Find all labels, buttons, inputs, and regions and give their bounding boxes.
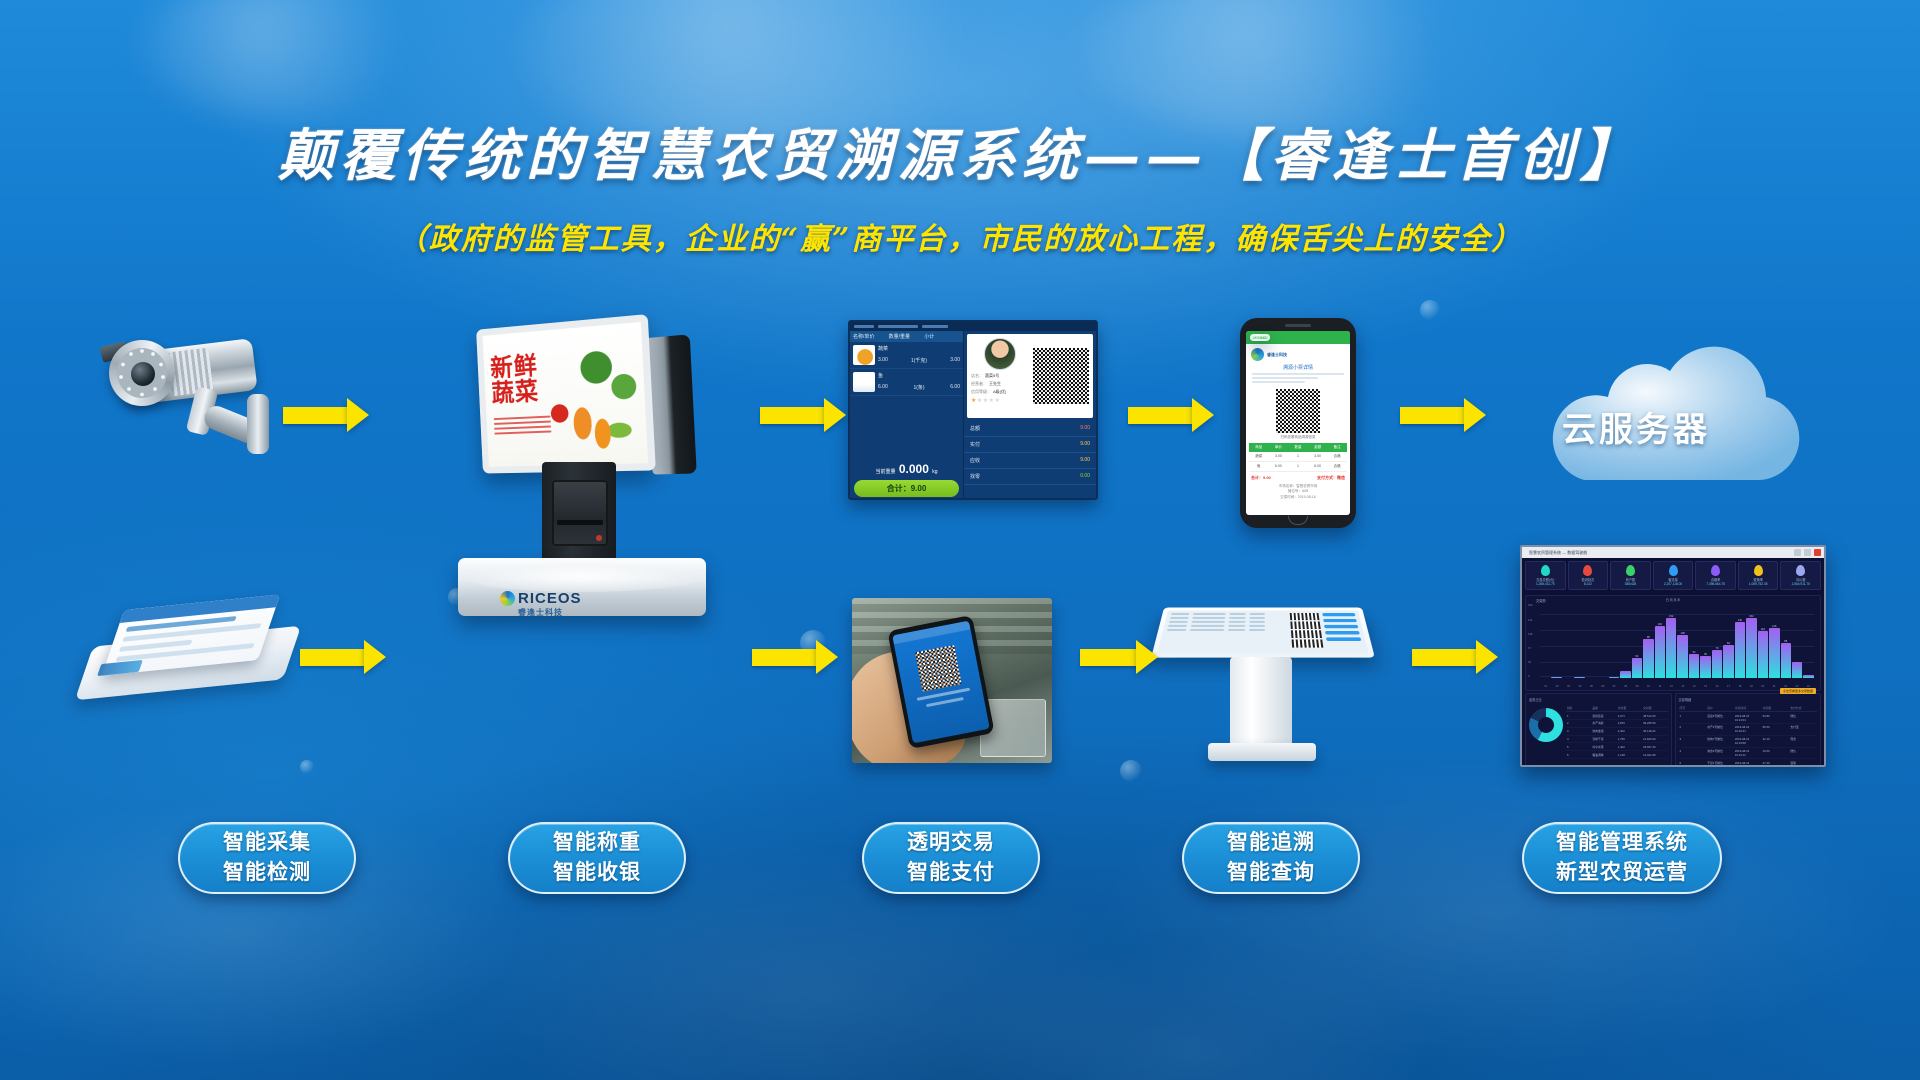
kiosk-row (1168, 625, 1287, 627)
weight-unit: kg (932, 469, 937, 475)
chart-bar: 126 (1769, 628, 1779, 678)
y-tick: 180 (1528, 604, 1532, 607)
table-cell: 支付宝 (1789, 724, 1817, 735)
table-row[interactable]: 5干货1号摊位2019-08-16 10:18:3727.40银联 (1679, 759, 1818, 767)
table-row[interactable]: 3鲜肉禽蛋2,40235,118.20 (1566, 728, 1668, 736)
chart-bar: 62 (1689, 654, 1699, 679)
brand-mark-icon (500, 591, 515, 606)
arrow-camera-to-pos (283, 398, 369, 432)
table-cell: 19.60 (1762, 748, 1790, 759)
table-row: 鱼 6.00 1 6.00 合格 (1249, 462, 1347, 472)
transaction-table: 序号商户交易时间交易额支付方式1蔬菜5号摊位2019-08-16 10:21:0… (1679, 704, 1818, 767)
data-collector-tablet (88, 596, 298, 716)
chart-bar: 70 (1712, 650, 1722, 678)
table-cell: 2 (1566, 720, 1591, 727)
th-item: 商品 (1249, 443, 1269, 452)
bar-value-label: 70 (1716, 647, 1719, 650)
table-cell: 银联 (1789, 759, 1817, 767)
summary-row: 应收9.00 (964, 453, 1096, 469)
table-cell: 微信 (1789, 748, 1817, 759)
camera-lens-icon (131, 362, 155, 386)
chart-bar (1586, 678, 1596, 679)
table-row[interactable]: 2水产海鲜2,81539,265.50 (1566, 720, 1668, 728)
chart-bar (1574, 677, 1584, 678)
table-cell: 2,402 (1617, 728, 1642, 735)
kpi-value: 2,207,118.00 (1655, 582, 1692, 586)
field-label: 店名： (971, 373, 983, 379)
label-line-1: 智能称重 (553, 828, 641, 858)
table-row[interactable]: 4豆制干货1,75621,843.00 (1566, 736, 1668, 744)
kiosk-qr-code[interactable] (1291, 630, 1322, 638)
bar-value-label: 130 (1658, 623, 1662, 626)
category-share-panel: 品类占比 排名品类交易量交易额1新鲜蔬菜3,27148,512.002水产海鲜2… (1525, 693, 1672, 767)
dashboard-window: 智慧农贸管理系统 — 数据驾驶舱 交易总额(元)1,268,431.75检测批次… (1520, 545, 1826, 767)
x-tick: 21 (1768, 685, 1779, 688)
field-label: 信用等级： (971, 389, 991, 395)
payment-qr-code[interactable] (915, 645, 962, 692)
table-cell: 熟食3号摊位 (1706, 748, 1734, 759)
item-subtotal: 6.00 (950, 384, 960, 391)
table-cell: 18,657.40 (1642, 743, 1667, 750)
label-line-2: 智能收银 (553, 858, 641, 888)
phone-pay-method: 支付方式：微信 (1317, 475, 1345, 481)
table-row[interactable]: 6粮油调味1,12814,921.80 (1566, 751, 1668, 759)
sub-title: （政府的监管工具，企业的“赢”商平台，市民的放心工程，确保舌尖上的安全） (0, 214, 1920, 258)
table-cell: 蔬菜5号摊位 (1706, 712, 1734, 723)
label-line-2: 智能检测 (223, 858, 311, 888)
table-cell: 现金 (1789, 736, 1817, 747)
table-cell: 时令水果 (1591, 743, 1616, 750)
bar-value-label: 108 (1680, 632, 1684, 635)
th-amount: 金额 (1308, 443, 1328, 452)
table-header-cell: 商户 (1706, 704, 1734, 711)
chart-bar: 98 (1643, 639, 1653, 678)
table-cell: 86.50 (1762, 724, 1790, 735)
category-table: 排名品类交易量交易额1新鲜蔬菜3,27148,512.002水产海鲜2,8153… (1566, 704, 1668, 758)
table-row[interactable]: 4熟食3号摊位2019-08-16 10:19:1219.60微信 (1679, 748, 1818, 760)
total-label: 合计： (887, 484, 911, 493)
bar-value-label: 118 (1761, 628, 1765, 631)
arrow-phone-to-cloud (1400, 398, 1486, 432)
vendor-field: 信用等级：A级(优) (971, 389, 1029, 395)
phone-page-title: 溯源小票详情 (1246, 364, 1350, 371)
summary-value: 9.00 (1080, 441, 1090, 448)
x-tick: 14 (1688, 685, 1699, 688)
summary-label: 总额 (970, 425, 980, 432)
table-cell: 1,402 (1617, 743, 1642, 750)
headline-block: 颠覆传统的智慧农贸溯源系统——【睿逢士首创】 （政府的监管工具，企业的“赢”商平… (0, 126, 1920, 258)
cashier-line-item[interactable]: 鱼 6.00 1(条) 6.00 (850, 369, 963, 396)
chart-bars: 52981301521086256708414015211812688 (1540, 606, 1814, 678)
x-tick: 03 (1563, 685, 1574, 688)
bar-value-label: 62 (1693, 651, 1696, 654)
table-header-row: 商品 单价 数量 金额 备注 (1249, 443, 1347, 452)
mobile-payment-photo (852, 598, 1052, 763)
label-line-2: 新型农贸运营 (1556, 858, 1688, 888)
item-qty: 1(条) (913, 384, 924, 391)
kiosk-button[interactable] (1325, 631, 1360, 635)
table-header-cell: 交易额 (1642, 704, 1667, 711)
label-trace-query[interactable]: 智能追溯 智能查询 (1182, 822, 1360, 894)
x-tick: 17 (1723, 685, 1734, 688)
traceability-phone-device: 溯源小票 睿逢士科技 溯源小票详情 扫码查看商品溯源信息 商品 单价 数量 金 (1240, 318, 1356, 528)
arrow-payment-to-kiosk (1080, 640, 1158, 674)
x-tick: 07 (1609, 685, 1620, 688)
vendor-qr-code[interactable] (1033, 348, 1089, 404)
x-tick: 08 (1620, 685, 1631, 688)
summary-label: 应收 (970, 457, 980, 464)
phone-total-row: 合计：9.00 支付方式：微信 (1246, 472, 1350, 484)
table-cell: 6 (1566, 751, 1591, 758)
cashier-titlebar (850, 322, 1096, 331)
table-cell: 2,815 (1617, 720, 1642, 727)
item-name: 蔬菜 (878, 345, 960, 352)
security-camera-device (95, 330, 295, 490)
vendor-field: 经营者：王先生 (971, 381, 1029, 387)
x-tick: 11 (1654, 685, 1665, 688)
table-cell: 水产海鲜 (1591, 720, 1616, 727)
table-header-row: 排名品类交易量交易额 (1566, 704, 1668, 712)
table-cell: 1 (1679, 712, 1707, 723)
kpi-card[interactable]: 评价数2,564,911.75 (1780, 561, 1821, 590)
payment-line (926, 697, 964, 707)
kpi-card[interactable]: 检测批次8,142 (1568, 561, 1609, 590)
bar-value-label: 126 (1772, 625, 1776, 628)
vendor-field: 店名：蔬菜5号 (971, 373, 1029, 379)
arrow-cashier-to-phone (1128, 398, 1214, 432)
chart-bar: 52 (1632, 658, 1642, 679)
dashboard-title: 智慧农贸管理系统 — 数据驾驶舱 (1525, 550, 1587, 556)
table-cell: 53.80 (1762, 712, 1790, 723)
label-line-2: 智能查询 (1227, 858, 1315, 888)
x-tick: 10 (1643, 685, 1654, 688)
table-cell: 35,118.20 (1642, 728, 1667, 735)
label-management-operations[interactable]: 智能管理系统 新型农贸运营 (1522, 822, 1722, 894)
phone-menu-icon[interactable] (1250, 334, 1270, 341)
summary-value: 9.00 (1080, 457, 1090, 464)
arrow-pos-to-cashier (760, 398, 846, 432)
kpi-value: 8,142 (1570, 582, 1607, 586)
phone-footer: 市场名称：智慧农贸市场 摊位号：A08 交易时间：2019-08-16 (1246, 484, 1350, 500)
cashier-line-item[interactable]: 蔬菜 3.00 1(千克) 3.00 (850, 342, 963, 369)
kiosk-row (1171, 613, 1286, 615)
bar-value-label: 152 (1669, 615, 1673, 618)
cashier-item-list: 名称/单价 数量/重量 小计 蔬菜 3.00 1(千克) 3.00 (850, 331, 964, 500)
item-price: 6.00 (878, 384, 888, 391)
chart-bar: 84 (1723, 645, 1733, 679)
kpi-card[interactable]: 交易总额(元)1,268,431.75 (1525, 561, 1566, 590)
kiosk-button[interactable] (1322, 613, 1355, 616)
arrow-scale-to-payment (752, 640, 838, 674)
table-cell: 39,265.50 (1642, 720, 1667, 727)
chart-bar (1792, 662, 1802, 678)
cashier-screen-device: 名称/单价 数量/重量 小计 蔬菜 3.00 1(千克) 3.00 (848, 320, 1098, 500)
summary-label: 实付 (970, 441, 980, 448)
chart-bar (1551, 677, 1561, 678)
label-line-1: 透明交易 (907, 828, 995, 858)
arrow-collector-to-scale (300, 640, 386, 674)
chart-bar (1540, 678, 1550, 679)
kiosk-qr-code[interactable] (1292, 640, 1324, 648)
printer-led-icon (596, 535, 602, 541)
vendor-avatar (984, 338, 1016, 370)
table-cell: 1,128 (1617, 751, 1642, 758)
table-cell: 5 (1679, 759, 1707, 767)
table-cell: 豆制干货 (1591, 736, 1616, 743)
table-header-cell: 排名 (1566, 704, 1591, 711)
cloud-label: 云服务器 (1536, 402, 1736, 451)
table-cell: 粮油调味 (1591, 751, 1616, 758)
arrow-kiosk-to-dashboard (1412, 640, 1498, 674)
table-cell: 27.40 (1762, 759, 1790, 767)
kpi-dot-icon (1669, 565, 1678, 576)
summary-row: 实付9.00 (964, 437, 1096, 453)
vendor-card: 店名：蔬菜5号 经营者：王先生 信用等级：A级(优) ★★★★★ (967, 334, 1093, 418)
table-cell: 14,921.80 (1642, 751, 1667, 758)
cashier-column-headers: 名称/单价 数量/重量 小计 (850, 331, 963, 342)
table-cell: 微信 (1789, 712, 1817, 723)
table-cell: 2019-08-16 10:21:04 (1734, 712, 1762, 723)
bar-value-label: 140 (1738, 619, 1742, 622)
kiosk-touchscreen[interactable] (1151, 607, 1375, 657)
table-cell: 21,843.00 (1642, 736, 1667, 743)
table-header-row: 序号商户交易时间交易额支付方式 (1679, 704, 1818, 712)
chart-bar (1620, 671, 1630, 678)
chart-title: 交易额 (1536, 598, 1546, 603)
brand-mark-icon (1251, 348, 1264, 361)
label-collection-detection[interactable]: 智能采集 智能检测 (178, 822, 356, 894)
col-sub: 小计 (924, 333, 960, 340)
table-cell: 2019-08-16 10:19:58 (1734, 736, 1762, 747)
label-line-1: 智能采集 (223, 828, 311, 858)
transaction-detail-panel: 交易明细 序号商户交易时间交易额支付方式1蔬菜5号摊位2019-08-16 10… (1675, 693, 1822, 767)
table-cell: 鲜肉7号摊位 (1706, 736, 1734, 747)
table-cell: 1 (1566, 712, 1591, 719)
table-header-cell: 序号 (1679, 704, 1707, 711)
pos-ad-line2: 蔬菜 (491, 378, 540, 408)
table-cell: 4 (1566, 736, 1591, 743)
kiosk-table (1162, 613, 1288, 651)
chart-more-link[interactable]: 点击查看更多交易数据 (1780, 688, 1816, 694)
col-qty: 数量/重量 (889, 333, 925, 340)
bar-value-label: 152 (1749, 615, 1753, 618)
close-button[interactable] (1814, 549, 1821, 556)
brand-name: RICEOS (518, 590, 582, 607)
phone-brand-cn: 睿逢士科技 (1267, 352, 1287, 357)
chart-y-axis: 18014410872360 (1528, 604, 1532, 678)
item-name: 鱼 (878, 372, 960, 379)
main-title: 颠覆传统的智慧农贸溯源系统——【睿逢士首创】 (0, 126, 1920, 188)
table-row: 蔬菜 3.00 1 3.00 合格 (1249, 452, 1347, 462)
x-tick: 16 (1711, 685, 1722, 688)
kpi-value: 1,069,752.35 (1740, 582, 1777, 586)
panel-title: 交易明细 (1679, 697, 1818, 702)
payment-scene (852, 598, 1052, 763)
brand-name-cn: 睿逢士科技 (518, 607, 582, 618)
chart-bar: 118 (1758, 631, 1768, 678)
kiosk-button[interactable] (1324, 625, 1358, 628)
kpi-card[interactable]: 商户数386/428 (1610, 561, 1651, 590)
y-tick: 0 (1528, 675, 1532, 678)
x-tick: 06 (1597, 685, 1608, 688)
kpi-card[interactable]: 客流量2,207,118.00 (1653, 561, 1694, 590)
table-row[interactable]: 1新鲜蔬菜3,27148,512.00 (1566, 712, 1668, 720)
kpi-value: 7,396,664.75 (1697, 582, 1734, 586)
chart-bar (1563, 678, 1573, 679)
field-label: 经营者： (971, 381, 987, 387)
summary-label: 找零 (970, 473, 980, 480)
table-cell: 2019-08-16 10:20:41 (1734, 724, 1762, 735)
kiosk-row (1169, 621, 1287, 623)
table-cell: 干货1号摊位 (1706, 759, 1734, 767)
chart-legend: 日 周 月 年 (1666, 598, 1681, 602)
cloud-server: 云服务器 (1512, 330, 1832, 515)
kiosk-qr-column (1290, 613, 1324, 651)
x-tick: 09 (1631, 685, 1642, 688)
kiosk-button[interactable] (1323, 619, 1357, 622)
phone-screen[interactable]: 溯源小票 睿逢士科技 溯源小票详情 扫码查看商品溯源信息 商品 单价 数量 金 (1246, 331, 1350, 515)
item-subtotal: 3.00 (950, 357, 960, 364)
kpi-card[interactable]: 退换率1,069,752.35 (1738, 561, 1779, 590)
item-thumbnail (853, 372, 875, 392)
kpi-value: 2,564,911.75 (1782, 582, 1819, 586)
kiosk-row (1170, 617, 1286, 619)
chart-bar: 152 (1746, 618, 1756, 679)
phone-brand: 睿逢士科技 (1246, 344, 1350, 363)
weight-label: 当前重量 (875, 469, 895, 475)
table-cell: 3 (1679, 736, 1707, 747)
category-donut-chart (1529, 708, 1563, 742)
bar-value-label: 98 (1647, 636, 1650, 639)
bar-value-label: 52 (1635, 655, 1638, 658)
summary-row: 找零0.00 (964, 469, 1096, 485)
phone-receipt-table: 商品 单价 数量 金额 备注 蔬菜 3.00 1 3.00 合格 鱼 (1249, 443, 1347, 472)
summary-row: 总额9.00 (964, 421, 1096, 437)
table-row[interactable]: 1蔬菜5号摊位2019-08-16 10:21:0453.80微信 (1679, 712, 1818, 724)
table-header-cell: 支付方式 (1789, 704, 1817, 711)
table-cell: 1,756 (1617, 736, 1642, 743)
label-weighing-cashier[interactable]: 智能称重 智能收银 (508, 822, 686, 894)
x-tick: 13 (1677, 685, 1688, 688)
chart-bar: 88 (1781, 643, 1791, 678)
th-note: 备注 (1327, 443, 1347, 452)
y-tick: 36 (1528, 661, 1532, 664)
total-value: 9.00 (911, 484, 927, 493)
table-cell: 鲜肉禽蛋 (1591, 728, 1616, 735)
scale-brand-logo: RICEOS 睿逢士科技 (518, 590, 582, 618)
minimize-button[interactable] (1794, 549, 1801, 556)
kiosk-base (1208, 743, 1316, 761)
x-tick: 05 (1586, 685, 1597, 688)
kpi-dot-icon (1583, 565, 1592, 576)
weight-value: 0.000 (899, 462, 929, 476)
table-header-cell: 品类 (1591, 704, 1616, 711)
chart-bar: 152 (1666, 618, 1676, 679)
label-line-2: 智能支付 (907, 858, 995, 888)
chart-bar: 108 (1677, 635, 1687, 678)
maximize-button[interactable] (1804, 549, 1811, 556)
weighing-pan (458, 558, 706, 616)
y-tick: 108 (1528, 633, 1532, 636)
chart-x-axis: 0102030405060708091011121314151617181920… (1540, 685, 1814, 688)
kpi-dot-icon (1754, 565, 1763, 576)
kpi-dot-icon (1541, 565, 1550, 576)
th-qty: 数量 (1288, 443, 1308, 452)
field-value: 蔬菜5号 (985, 373, 999, 379)
kiosk-button[interactable] (1326, 637, 1361, 641)
total-button[interactable]: 合计：9.00 (854, 480, 959, 497)
table-cell: 2019-08-16 10:18:37 (1734, 759, 1762, 767)
payment-app-screen[interactable] (892, 621, 990, 744)
panel-title: 品类占比 (1529, 697, 1668, 702)
table-header-cell: 交易量 (1617, 704, 1642, 711)
table-cell: 2019-08-16 10:19:12 (1734, 748, 1762, 759)
table-row[interactable]: 2水产2号摊位2019-08-16 10:20:4186.50支付宝 (1679, 724, 1818, 736)
x-tick: 19 (1746, 685, 1757, 688)
kiosk-qr-code[interactable] (1290, 613, 1320, 620)
x-tick: 04 (1574, 685, 1585, 688)
kpi-card[interactable]: 合格率7,396,664.75 (1695, 561, 1736, 590)
phone-statusbar: 溯源小票 (1246, 331, 1350, 344)
table-cell: 48,512.00 (1642, 712, 1667, 719)
management-dashboard-device: 智慧农贸管理系统 — 数据驾驶舱 交易总额(元)1,268,431.75检测批次… (1520, 545, 1826, 767)
x-tick: 15 (1700, 685, 1711, 688)
item-thumbnail (853, 345, 875, 365)
kpi-dot-icon (1796, 565, 1805, 576)
table-cell: 4 (1679, 748, 1707, 759)
kpi-dot-icon (1711, 565, 1720, 576)
kpi-value: 386/428 (1612, 582, 1649, 586)
qr-caption: 扫码查看商品溯源信息 (1246, 435, 1350, 440)
kiosk-qr-code[interactable] (1290, 622, 1320, 629)
x-tick: 02 (1551, 685, 1562, 688)
kpi-dot-icon (1626, 565, 1635, 576)
field-value: A级(优) (993, 389, 1006, 395)
table-cell: 2 (1679, 724, 1707, 735)
transactions-bar-chart: 交易额 日 周 月 年 18014410872360 5298130152108… (1525, 595, 1821, 691)
phone-info-lines (1246, 371, 1350, 387)
chart-bar (1803, 675, 1813, 678)
chart-bar (1597, 678, 1607, 679)
col-name: 名称/单价 (853, 333, 889, 340)
chart-bar: 56 (1700, 656, 1710, 678)
smartphone: 溯源小票 睿逢士科技 溯源小票详情 扫码查看商品溯源信息 商品 单价 数量 金 (1240, 318, 1356, 528)
table-row[interactable]: 5时令水果1,40218,657.40 (1566, 743, 1668, 751)
receipt-printer-icon (552, 480, 608, 546)
x-tick: 18 (1734, 685, 1745, 688)
table-row[interactable]: 3鲜肉7号摊位2019-08-16 10:19:5842.10现金 (1679, 736, 1818, 748)
phone-total: 合计：9.00 (1251, 475, 1271, 481)
field-value: 王先生 (989, 381, 1001, 387)
table-header-cell: 交易时间 (1734, 704, 1762, 711)
kpi-value: 1,268,431.75 (1527, 582, 1564, 586)
traceability-qr-code[interactable] (1276, 389, 1320, 433)
label-line-1: 智能管理系统 (1556, 828, 1688, 858)
label-transparent-payment[interactable]: 透明交易 智能支付 (862, 822, 1040, 894)
kiosk-stand (1230, 657, 1292, 749)
table-cell: 水产2号摊位 (1706, 724, 1734, 735)
dashboard-titlebar: 智慧农贸管理系统 — 数据驾驶舱 (1522, 547, 1824, 558)
weight-readout: 当前重量 0.000 kg (850, 456, 963, 480)
query-kiosk-device (1158, 595, 1368, 770)
kiosk-button-column (1322, 613, 1363, 651)
summary-value: 9.00 (1080, 425, 1090, 432)
bar-value-label: 84 (1727, 642, 1730, 645)
kpi-row: 交易总额(元)1,268,431.75检测批次8,142商户数386/428客流… (1522, 558, 1824, 593)
table-cell: 新鲜蔬菜 (1591, 712, 1616, 719)
th-price: 单价 (1269, 443, 1289, 452)
table-header-cell: 交易额 (1762, 704, 1790, 711)
